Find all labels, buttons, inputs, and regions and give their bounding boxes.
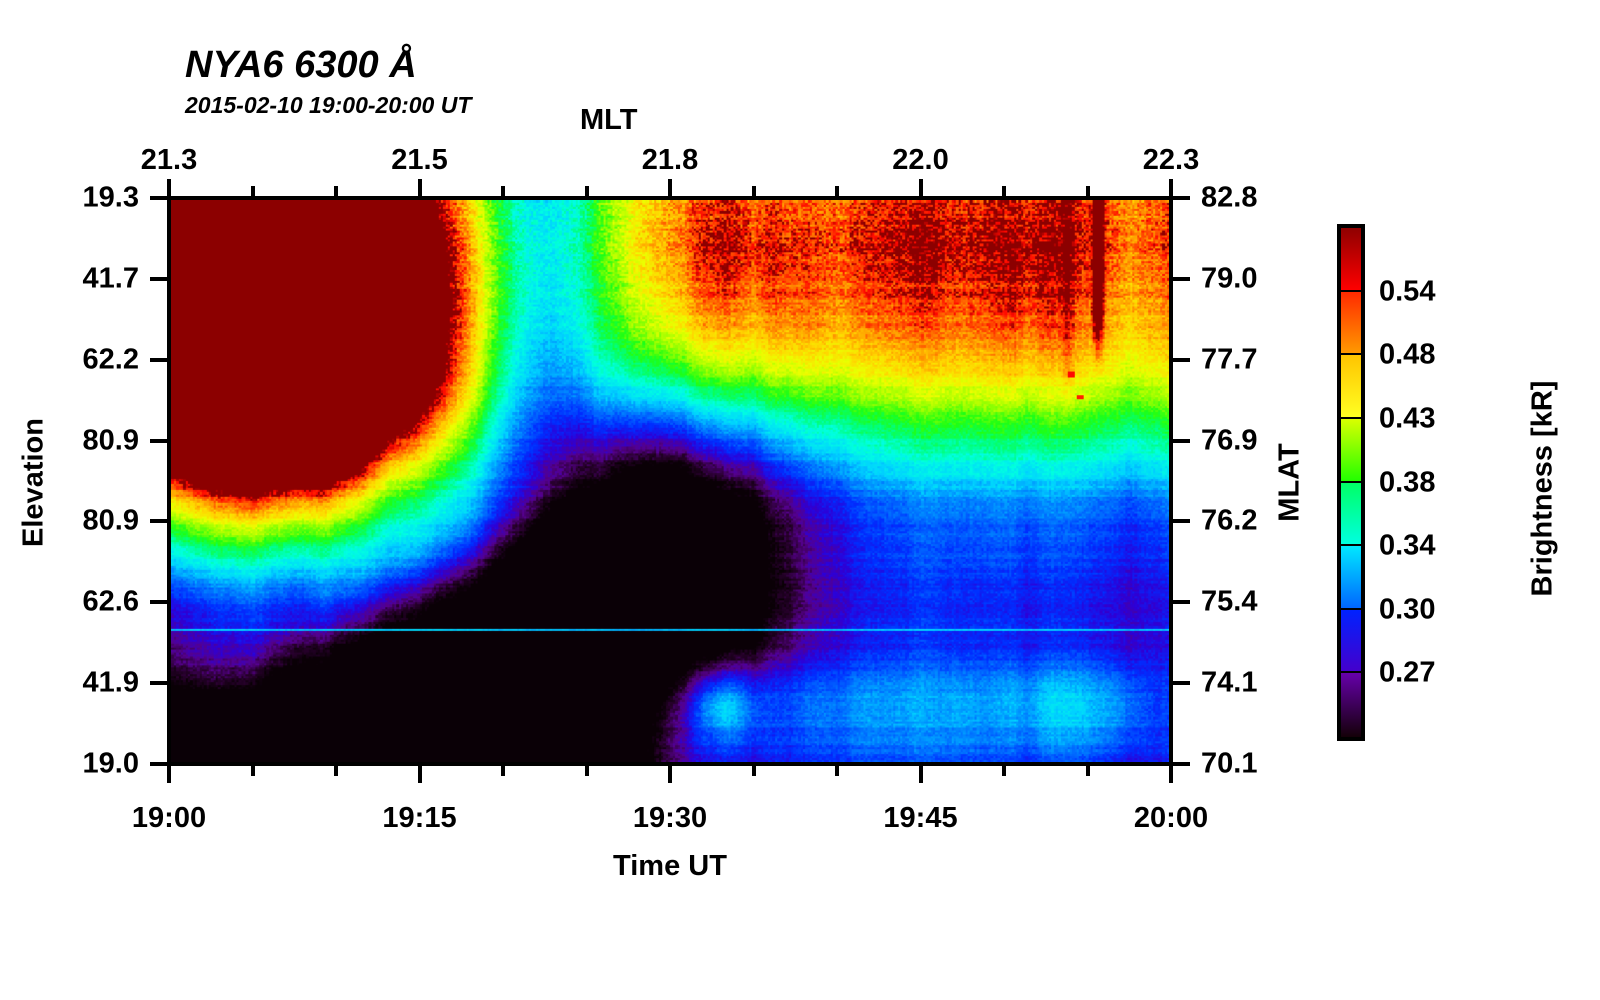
colorbar-tick-label-1: 0.48 (1379, 339, 1435, 372)
mlat-tick-label-4: 76.2 (1201, 505, 1351, 538)
elevation-tick-label-2: 62.2 (0, 343, 139, 376)
mlat-tick-label-3: 76.9 (1201, 424, 1351, 457)
time-tick-label-2: 19:30 (633, 802, 707, 835)
elevation-axis-label: Elevation (18, 393, 51, 573)
colorbar-tick-label-4: 0.34 (1379, 530, 1435, 563)
time-tick-major (167, 766, 171, 783)
time-axis-label: Time UT (0, 850, 1340, 883)
elevation-tick-4 (150, 519, 167, 523)
time-tick-major (1169, 766, 1173, 783)
keogram-figure: NYA6 6300 Å 2015-02-10 19:00-20:00 UT ML… (0, 0, 1600, 1000)
brightness-axis-label: Brightness [kR] (1527, 324, 1560, 654)
mlt-tick-minor (752, 186, 756, 196)
elevation-tick-label-6: 41.9 (0, 667, 139, 700)
mlt-tick-label-3: 22.0 (892, 144, 948, 177)
mlt-tick-label-1: 21.5 (391, 144, 447, 177)
mlt-tick-major (1169, 179, 1173, 196)
mlat-tick-label-5: 75.4 (1201, 586, 1351, 619)
elevation-tick-5 (150, 600, 167, 604)
time-tick-minor (251, 766, 255, 776)
mlt-tick-minor (334, 186, 338, 196)
elevation-tick-label-7: 19.0 (0, 748, 139, 781)
elevation-tick-label-3: 80.9 (0, 424, 139, 457)
elevation-tick-7 (150, 762, 167, 766)
page-title: NYA6 6300 Å (185, 44, 417, 87)
mlt-tick-major (167, 179, 171, 196)
keogram-plot-area[interactable] (167, 196, 1173, 766)
colorbar-tick-label-6: 0.27 (1379, 657, 1435, 690)
keogram-heatmap (171, 200, 1169, 762)
time-tick-minor (1002, 766, 1006, 776)
mlat-axis-label: MLAT (1274, 393, 1307, 573)
mlt-tick-label-0: 21.3 (141, 144, 197, 177)
elevation-tick-1 (150, 277, 167, 281)
elevation-tick-label-4: 80.9 (0, 505, 139, 538)
colorbar-tick-label-2: 0.43 (1379, 402, 1435, 435)
mlt-tick-minor (835, 186, 839, 196)
mlat-tick-6 (1173, 681, 1190, 685)
mlat-tick-7 (1173, 762, 1190, 766)
mlt-tick-minor (1086, 186, 1090, 196)
mlt-tick-minor (585, 186, 589, 196)
colorbar (1337, 224, 1365, 741)
colorbar-tick-label-0: 0.54 (1379, 275, 1435, 308)
mlat-tick-label-6: 74.1 (1201, 667, 1351, 700)
mlat-tick-label-7: 70.1 (1201, 748, 1351, 781)
elevation-tick-label-1: 41.7 (0, 262, 139, 295)
mlt-tick-minor (251, 186, 255, 196)
mlt-tick-major (418, 179, 422, 196)
mlat-tick-label-1: 79.0 (1201, 262, 1351, 295)
time-tick-label-0: 19:00 (132, 802, 206, 835)
mlat-tick-3 (1173, 439, 1190, 443)
elevation-tick-6 (150, 681, 167, 685)
elevation-tick-label-5: 62.6 (0, 586, 139, 619)
colorbar-tick-label-5: 0.30 (1379, 593, 1435, 626)
elevation-tick-label-0: 19.3 (0, 182, 139, 215)
time-tick-major (418, 766, 422, 783)
mlat-tick-label-2: 77.7 (1201, 343, 1351, 376)
time-tick-minor (501, 766, 505, 776)
elevation-tick-2 (150, 358, 167, 362)
colorbar-segment-6 (1341, 610, 1361, 674)
mlt-tick-label-2: 21.8 (642, 144, 698, 177)
mlt-tick-minor (1002, 186, 1006, 196)
mlat-tick-0 (1173, 196, 1190, 200)
time-tick-label-4: 20:00 (1134, 802, 1208, 835)
elevation-tick-3 (150, 439, 167, 443)
elevation-tick-0 (150, 196, 167, 200)
mlt-tick-major (668, 179, 672, 196)
time-tick-major (919, 766, 923, 783)
plot-subtitle: 2015-02-10 19:00-20:00 UT (185, 92, 471, 119)
mlat-tick-2 (1173, 358, 1190, 362)
mlt-tick-minor (501, 186, 505, 196)
mlat-tick-4 (1173, 519, 1190, 523)
time-tick-major (668, 766, 672, 783)
mlt-tick-major (919, 179, 923, 196)
time-tick-label-1: 19:15 (382, 802, 456, 835)
mlt-axis-label: MLT (580, 104, 637, 137)
time-tick-minor (752, 766, 756, 776)
time-tick-label-3: 19:45 (883, 802, 957, 835)
mlat-tick-label-0: 82.8 (1201, 182, 1351, 215)
colorbar-tick-label-3: 0.38 (1379, 466, 1435, 499)
mlat-tick-5 (1173, 600, 1190, 604)
time-tick-minor (585, 766, 589, 776)
mlat-tick-1 (1173, 277, 1190, 281)
time-tick-minor (334, 766, 338, 776)
time-tick-minor (835, 766, 839, 776)
mlt-tick-label-4: 22.3 (1143, 144, 1199, 177)
time-tick-minor (1086, 766, 1090, 776)
